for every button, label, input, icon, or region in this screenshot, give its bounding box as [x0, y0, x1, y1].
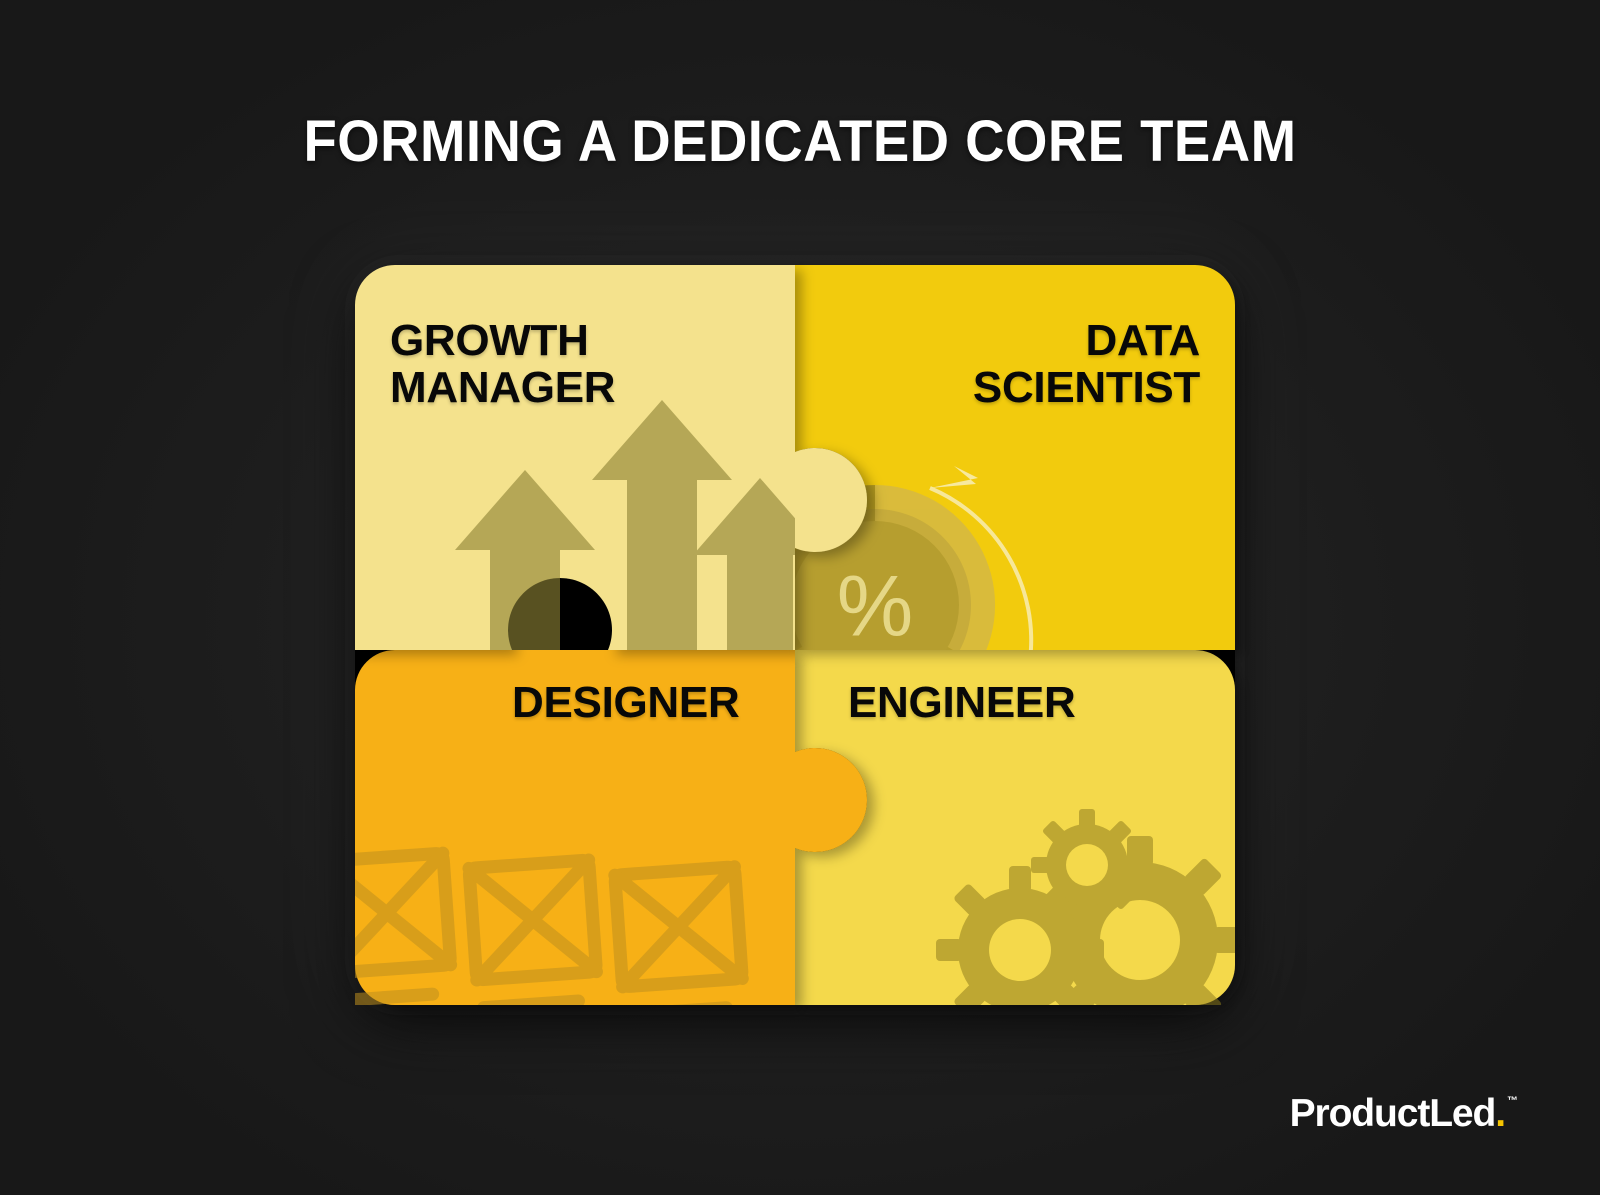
piece-label-designer: DESIGNER	[512, 680, 739, 727]
productled-logo: ProductLed . ™	[1290, 1094, 1518, 1133]
piece-label-engineer: ENGINEER	[848, 680, 1075, 727]
logo-wordmark: ProductLed	[1290, 1094, 1496, 1133]
percent-symbol: %	[837, 559, 913, 655]
piece-label-growth-manager: GROWTH MANAGER	[390, 318, 615, 411]
logo-dot: .	[1495, 1094, 1505, 1133]
logo-trademark: ™	[1507, 1096, 1518, 1107]
piece-label-data-scientist: DATA SCIENTIST	[830, 318, 1200, 411]
slide-background: FORMING A DEDICATED CORE TEAM	[0, 0, 1600, 1195]
page-title: FORMING A DEDICATED CORE TEAM	[48, 108, 1552, 175]
